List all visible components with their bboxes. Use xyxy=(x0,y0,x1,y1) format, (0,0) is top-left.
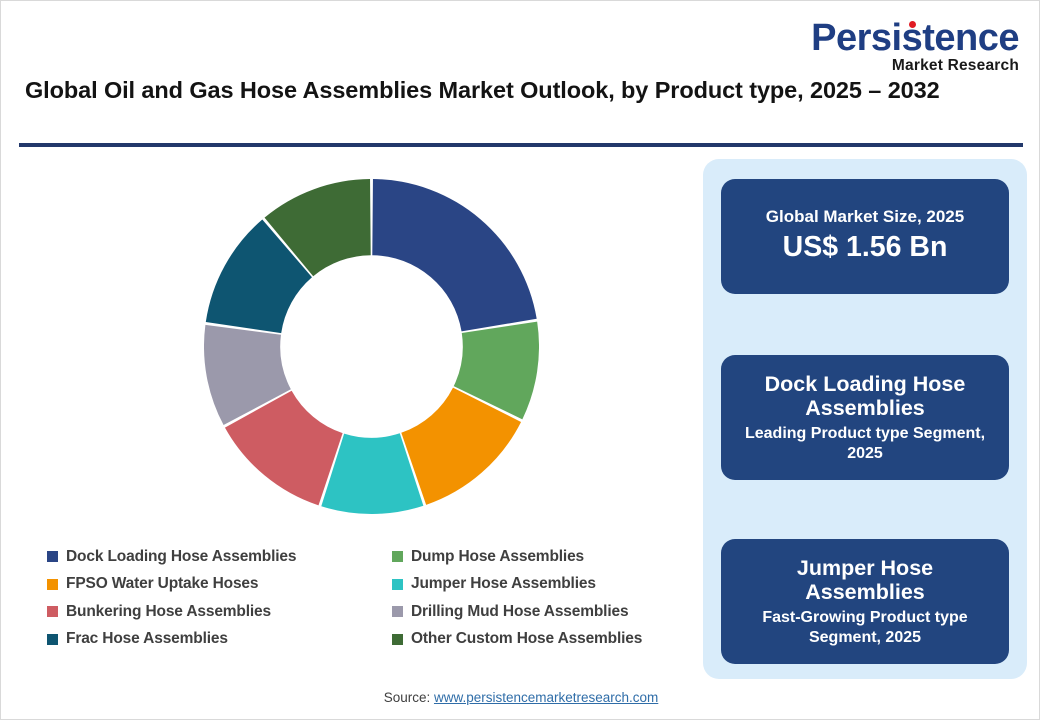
company-logo: Persistence Market Research xyxy=(811,19,1019,74)
legend-swatch-icon xyxy=(47,579,58,590)
fastest-growing-segment-card: Jumper Hose Assemblies Fast-Growing Prod… xyxy=(721,539,1009,664)
header: Persistence Market Research Global Oil a… xyxy=(1,1,1040,147)
logo-wordmark: Persistence xyxy=(811,19,1019,57)
legend-swatch-icon xyxy=(47,634,58,645)
legend-item[interactable]: Frac Hose Assemblies xyxy=(47,630,392,648)
legend-item[interactable]: Other Custom Hose Assemblies xyxy=(392,630,697,648)
donut-chart-svg: Dock Loading Hose Assemblies: 22.5%Dump … xyxy=(204,179,539,514)
fastest-growing-segment-title: Jumper Hose Assemblies xyxy=(735,556,995,606)
legend-swatch-icon xyxy=(392,634,403,645)
legend-item-label: Bunkering Hose Assemblies xyxy=(66,603,271,621)
market-size-card: Global Market Size, 2025 US$ 1.56 Bn xyxy=(721,179,1009,294)
legend-item-label: FPSO Water Uptake Hoses xyxy=(66,575,258,593)
legend-swatch-icon xyxy=(392,579,403,590)
donut-chart: Dock Loading Hose Assemblies: 22.5%Dump … xyxy=(204,179,539,514)
legend-item[interactable]: Dump Hose Assemblies xyxy=(392,548,697,566)
donut-slice-group: Dock Loading Hose Assemblies: 22.5%Dump … xyxy=(204,179,539,514)
legend-item[interactable]: Bunkering Hose Assemblies xyxy=(47,603,392,621)
source-link[interactable]: www.persistencemarketresearch.com xyxy=(434,690,658,705)
legend-swatch-icon xyxy=(47,551,58,562)
legend-item[interactable]: Dock Loading Hose Assemblies xyxy=(47,548,392,566)
legend-item[interactable]: Drilling Mud Hose Assemblies xyxy=(392,603,697,621)
chart-legend: Dock Loading Hose AssembliesDump Hose As… xyxy=(47,543,697,653)
legend-swatch-icon xyxy=(392,551,403,562)
leading-segment-subtitle: Leading Product type Segment, 2025 xyxy=(735,424,995,463)
chart-area: Dock Loading Hose Assemblies: 22.5%Dump … xyxy=(1,151,701,671)
legend-item-label: Dock Loading Hose Assemblies xyxy=(66,548,296,566)
legend-item-label: Jumper Hose Assemblies xyxy=(411,575,596,593)
logo-tagline: Market Research xyxy=(811,58,1019,74)
page-title: Global Oil and Gas Hose Assemblies Marke… xyxy=(25,75,955,106)
source-footer: Source: www.persistencemarketresearch.co… xyxy=(1,690,1040,705)
legend-swatch-icon xyxy=(47,606,58,617)
legend-item-label: Other Custom Hose Assemblies xyxy=(411,630,642,648)
fastest-growing-segment-subtitle: Fast-Growing Product type Segment, 2025 xyxy=(735,608,995,647)
leading-segment-title: Dock Loading Hose Assemblies xyxy=(735,372,995,422)
market-size-value: US$ 1.56 Bn xyxy=(783,230,948,266)
legend-item-label: Frac Hose Assemblies xyxy=(66,630,228,648)
legend-item[interactable]: Jumper Hose Assemblies xyxy=(392,575,697,593)
highlights-panel: Global Market Size, 2025 US$ 1.56 Bn Doc… xyxy=(703,159,1027,679)
donut-slice[interactable]: Dock Loading Hose Assemblies: 22.5% xyxy=(372,179,536,331)
legend-item[interactable]: FPSO Water Uptake Hoses xyxy=(47,575,392,593)
source-label: Source: xyxy=(384,690,434,705)
leading-segment-card: Dock Loading Hose Assemblies Leading Pro… xyxy=(721,355,1009,480)
market-size-label: Global Market Size, 2025 xyxy=(766,207,964,227)
legend-item-label: Dump Hose Assemblies xyxy=(411,548,584,566)
header-divider xyxy=(19,143,1023,147)
infographic-page: Persistence Market Research Global Oil a… xyxy=(0,0,1040,720)
legend-swatch-icon xyxy=(392,606,403,617)
legend-item-label: Drilling Mud Hose Assemblies xyxy=(411,603,628,621)
